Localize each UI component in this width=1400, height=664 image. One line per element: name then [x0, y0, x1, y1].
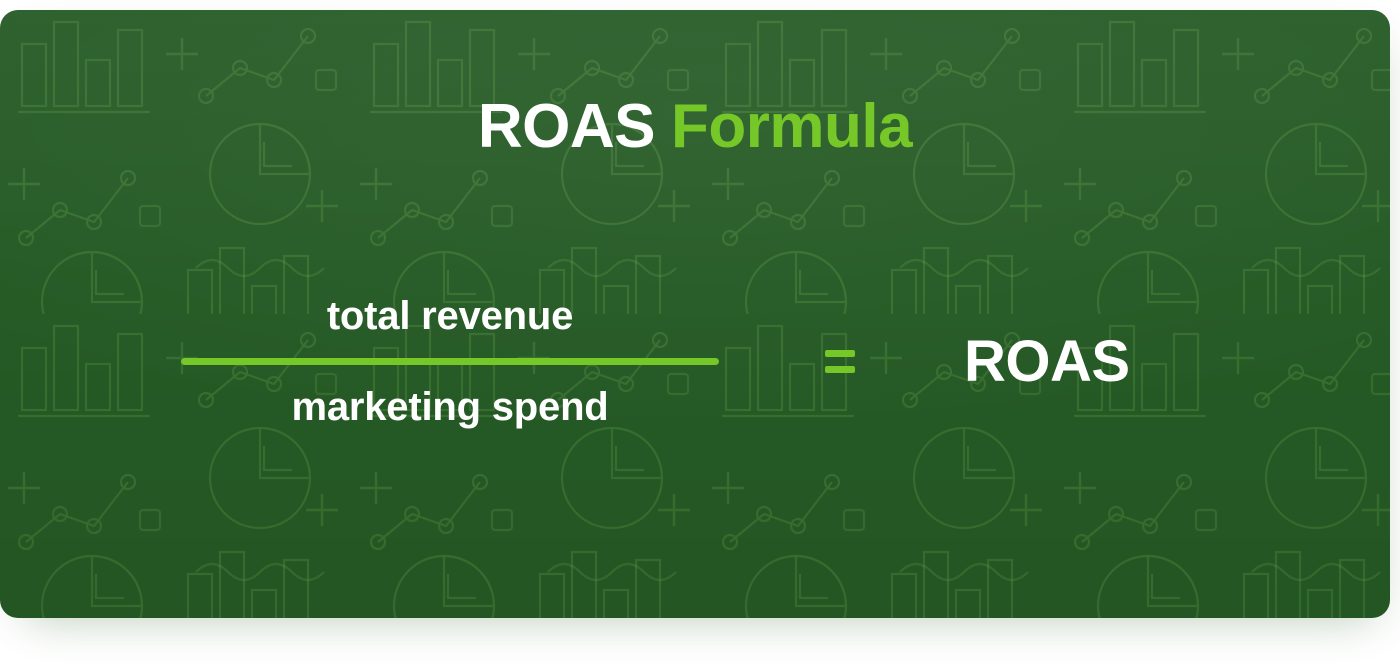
page-title: ROASFormula: [0, 96, 1390, 158]
formula-result: ROAS: [900, 333, 1130, 391]
roas-equation: total revenue marketing spend ROAS: [0, 296, 1390, 427]
title-part-roas: ROAS: [478, 92, 655, 161]
fraction-numerator: total revenue: [327, 296, 573, 358]
equals-bar-bottom: [825, 366, 855, 373]
fraction: total revenue marketing spend: [120, 296, 780, 427]
title-part-formula: Formula: [671, 92, 912, 161]
equals-bar-top: [825, 350, 855, 357]
fraction-bar: [181, 358, 719, 365]
roas-formula-card: ROASFormula total revenue marketing spen…: [0, 10, 1390, 618]
screenshot-root: ROASFormula total revenue marketing spen…: [0, 0, 1400, 664]
fraction-denominator: marketing spend: [291, 365, 608, 427]
equals-icon: [780, 350, 900, 373]
